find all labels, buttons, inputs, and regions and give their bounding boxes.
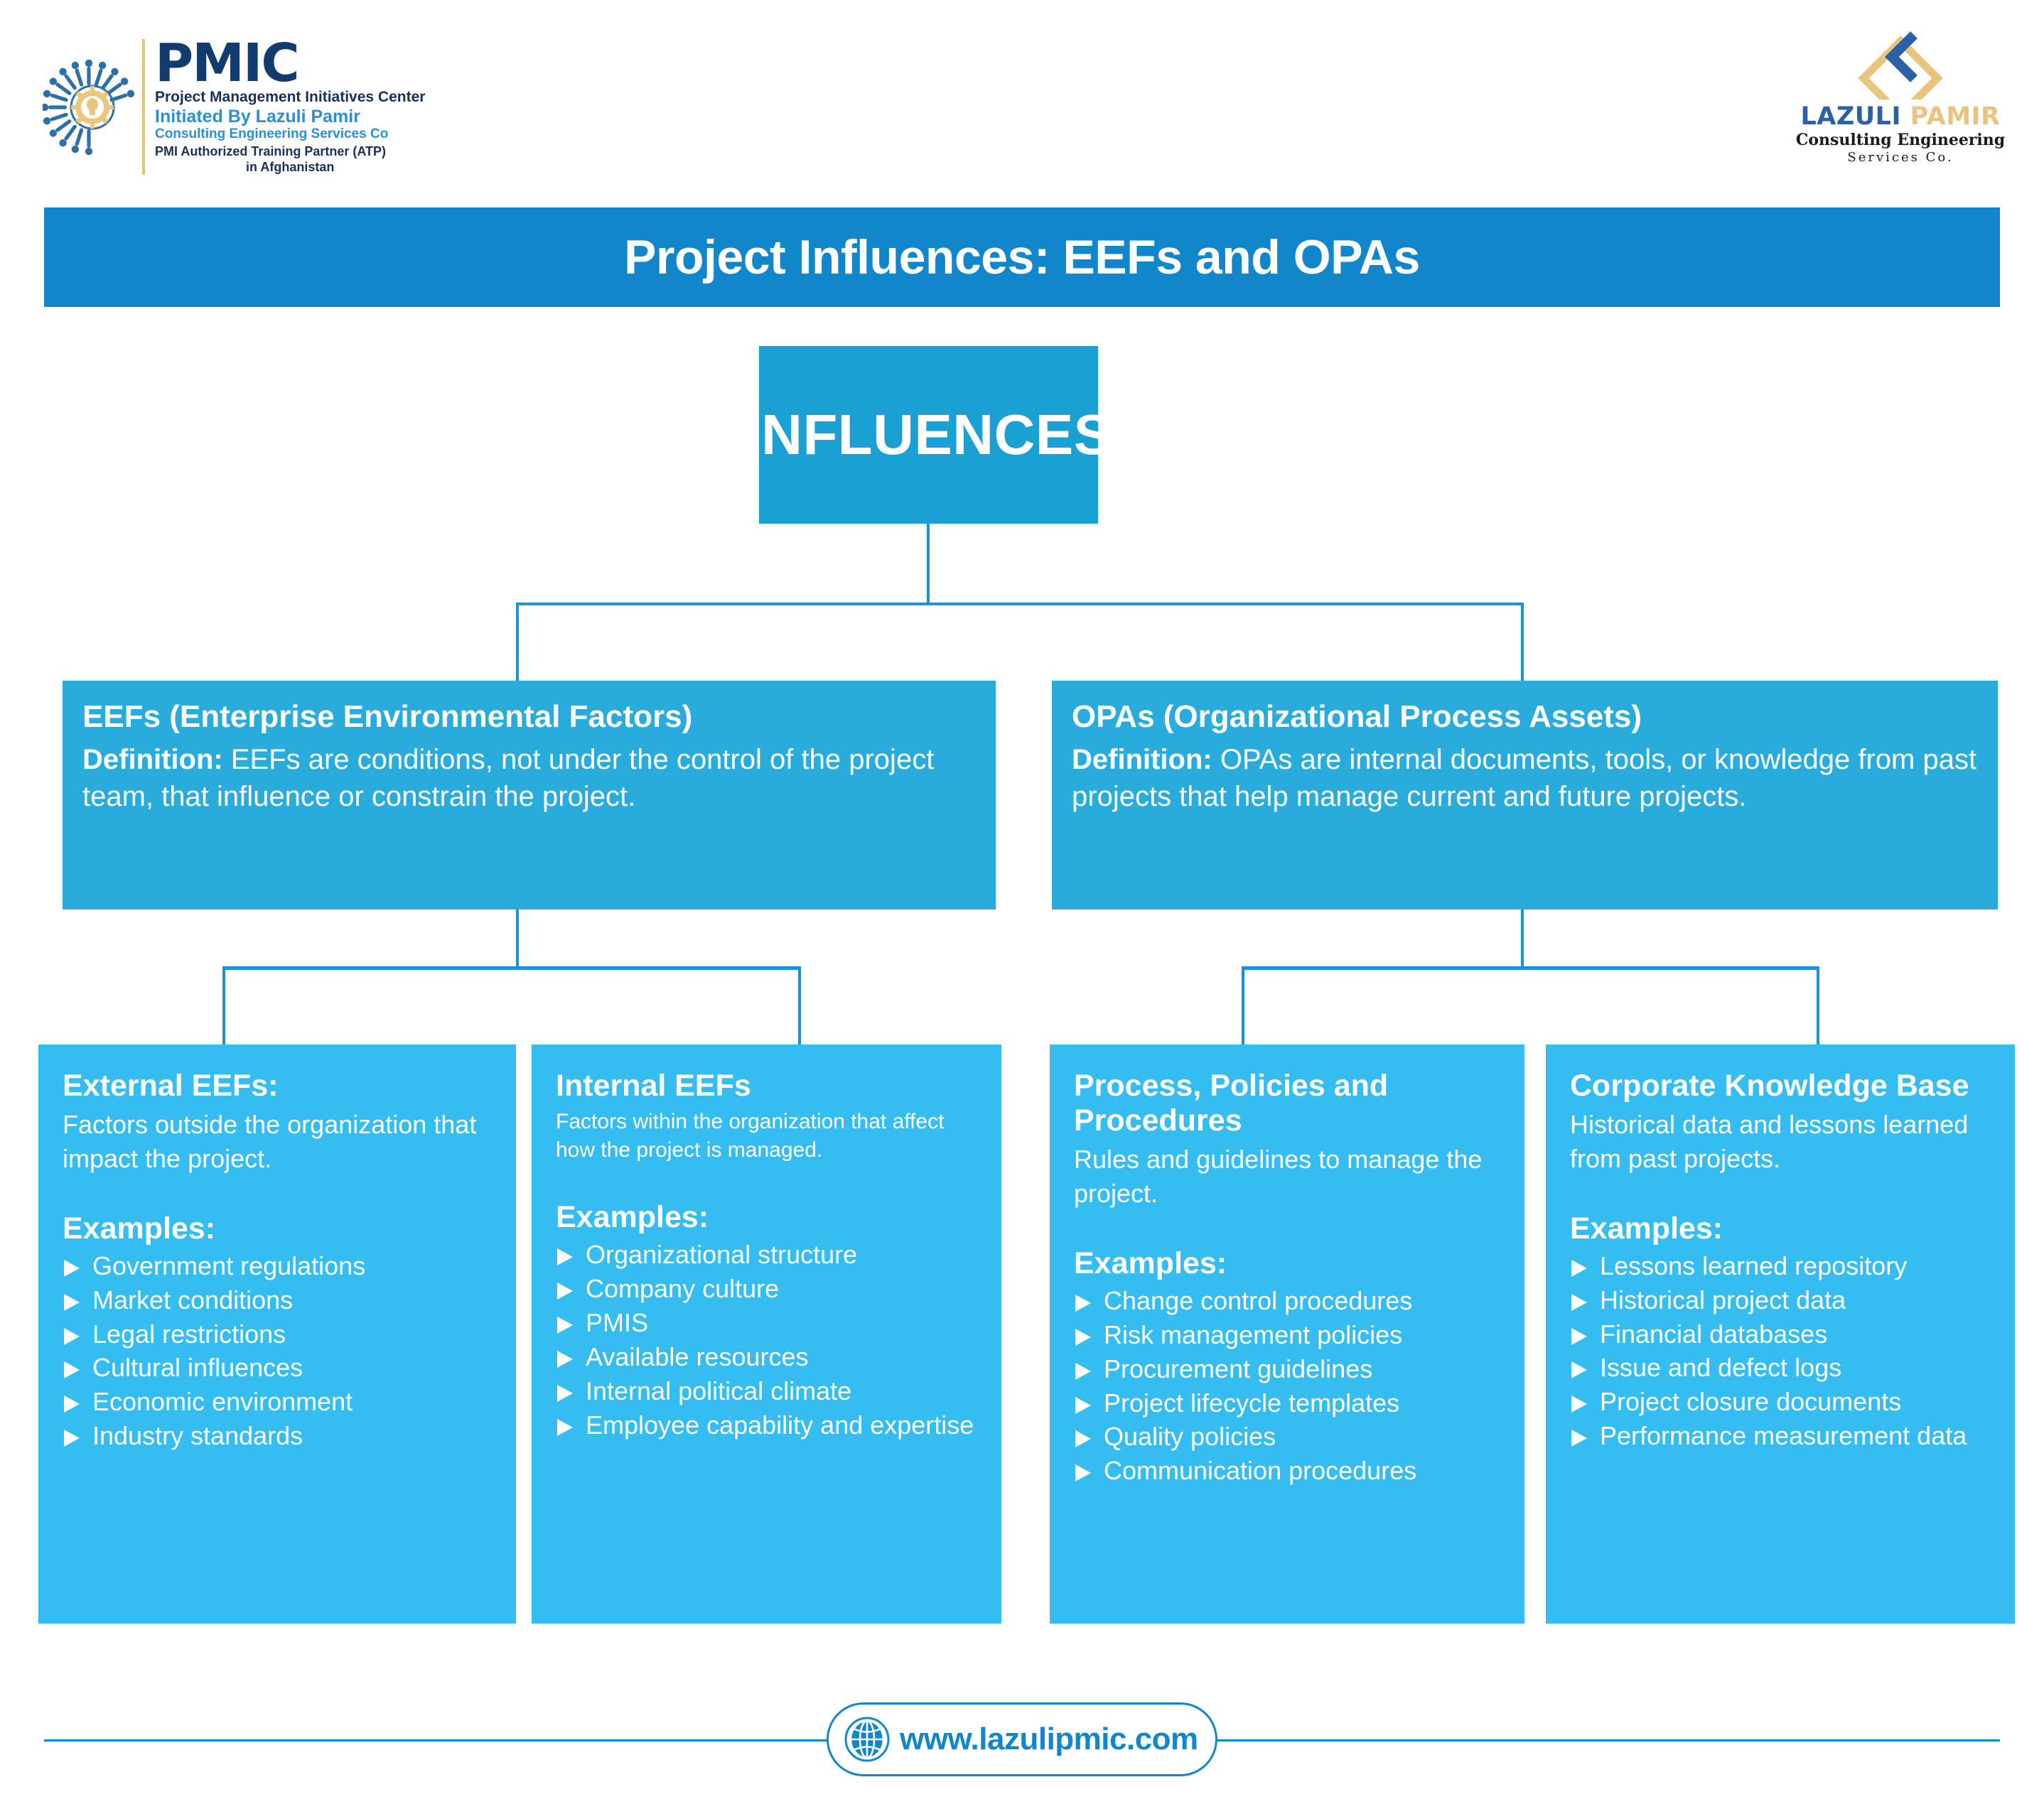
website-badge[interactable]: www.lazulipmic.com	[827, 1702, 1217, 1776]
list-item-label: Change control procedures	[1104, 1285, 1503, 1317]
card-corporate-knowledge-title: Corporate Knowledge Base	[1570, 1069, 1994, 1103]
pamir-word: PAMIR	[1910, 102, 2001, 131]
node-opas: OPAs (Organizational Process Assets) Def…	[1052, 681, 1998, 909]
connector-opa-bus	[1242, 966, 1819, 970]
list-item: Legal restrictions	[63, 1319, 495, 1350]
triangle-bullet-icon	[1074, 1361, 1098, 1381]
triangle-bullet-icon	[63, 1428, 87, 1448]
card-external-eefs-description: Factors outside the organization that im…	[63, 1108, 495, 1176]
node-influences: INFLUENCES	[759, 346, 1098, 524]
node-eefs: EEFs (Enterprise Environmental Factors) …	[63, 681, 996, 909]
triangle-bullet-icon	[556, 1315, 580, 1335]
list-item-label: Project closure documents	[1600, 1386, 1994, 1417]
list-item: Government regulations	[63, 1251, 495, 1282]
card-internal-eefs-examples-label: Examples:	[556, 1200, 980, 1235]
pmic-tagline-2: Initiated By Lazuli Pamir	[155, 107, 425, 127]
connector-to-internal-eefs	[798, 966, 801, 1046]
list-item: Project closure documents	[1570, 1386, 1994, 1417]
page-title-bar: Project Influences: EEFs and OPAs	[44, 207, 2000, 307]
list-item: Industry standards	[63, 1420, 495, 1452]
card-process-policies-procedures: Process, Policies and Procedures Rules a…	[1050, 1044, 1524, 1624]
list-item: Historical project data	[1570, 1285, 1994, 1316]
triangle-bullet-icon	[63, 1327, 87, 1346]
list-item-label: Financial databases	[1600, 1319, 1994, 1350]
card-process-policies-examples-label: Examples:	[1074, 1246, 1503, 1281]
list-item: Issue and defect logs	[1570, 1352, 1994, 1383]
connector-eef-stem	[516, 909, 519, 969]
list-item: Company culture	[556, 1273, 980, 1305]
triangle-bullet-icon	[556, 1281, 580, 1301]
lazuli-sub-1: Consulting Engineering	[1794, 131, 2007, 149]
pmic-tagline-5: in Afghanistan	[155, 160, 425, 175]
card-corporate-knowledge-examples-label: Examples:	[1570, 1211, 1994, 1246]
lazuli-diamond-icon	[1858, 26, 1943, 99]
list-item-label: Market conditions	[92, 1285, 495, 1316]
list-item-label: Lessons learned repository	[1600, 1251, 1994, 1282]
card-internal-eefs-title: Internal EEFs	[556, 1069, 980, 1103]
connector-level2-bus	[516, 603, 1524, 605]
lazuli-word: LAZULI	[1800, 102, 1901, 131]
connector-to-external-eefs	[222, 966, 225, 1046]
pmic-acronym: PMIC	[155, 39, 425, 87]
node-opas-heading: OPAs (Organizational Process Assets)	[1072, 699, 1978, 735]
list-item-label: Government regulations	[92, 1251, 495, 1282]
list-item-label: Risk management policies	[1104, 1319, 1503, 1351]
list-item: Project lifecycle templates	[1074, 1388, 1503, 1419]
triangle-bullet-icon	[1570, 1292, 1594, 1312]
node-eefs-definition-label: Definition:	[82, 744, 223, 775]
card-external-eefs: External EEFs: Factors outside the organ…	[38, 1044, 516, 1624]
node-eefs-heading: EEFs (Enterprise Environmental Factors)	[82, 699, 976, 735]
list-item: Organizational structure	[556, 1239, 980, 1270]
card-internal-eefs-description: Factors within the organization that aff…	[556, 1108, 980, 1165]
triangle-bullet-icon	[63, 1292, 87, 1312]
pmic-tagline-3: Consulting Engineering Services Co	[155, 126, 425, 142]
list-item: Change control procedures	[1074, 1285, 1503, 1317]
list-item: Procurement guidelines	[1074, 1354, 1503, 1385]
node-opas-definition-label: Definition:	[1072, 744, 1212, 775]
triangle-bullet-icon	[556, 1247, 580, 1267]
connector-to-opa	[1521, 603, 1524, 682]
triangle-bullet-icon	[63, 1258, 87, 1278]
triangle-bullet-icon	[1570, 1360, 1594, 1380]
card-process-policies-description: Rules and guidelines to manage the proje…	[1074, 1143, 1503, 1211]
list-item-label: Project lifecycle templates	[1104, 1388, 1503, 1419]
list-item-label: Company culture	[586, 1273, 980, 1305]
list-item: Employee capability and expertise	[556, 1410, 980, 1441]
triangle-bullet-icon	[1074, 1463, 1098, 1483]
triangle-bullet-icon	[1570, 1327, 1594, 1346]
list-item: Internal political climate	[556, 1376, 980, 1407]
list-item: Economic environment	[63, 1386, 495, 1417]
list-item-label: Performance measurement data	[1600, 1420, 1994, 1452]
list-item-label: Historical project data	[1600, 1285, 1994, 1316]
list-item-label: Communication procedures	[1104, 1455, 1503, 1486]
connector-to-process-policies	[1242, 966, 1244, 1046]
list-item-label: Available resources	[586, 1341, 980, 1373]
triangle-bullet-icon	[1074, 1395, 1098, 1415]
card-internal-eefs: Internal EEFs Factors within the organiz…	[532, 1044, 1001, 1624]
triangle-bullet-icon	[63, 1394, 87, 1414]
triangle-bullet-icon	[1074, 1429, 1098, 1449]
connector-root-stem	[927, 524, 930, 604]
list-item-label: Cultural influences	[92, 1352, 495, 1383]
node-eefs-definition: Definition: EEFs are conditions, not und…	[82, 741, 976, 816]
list-item: PMIS	[556, 1307, 980, 1339]
list-item-label: Procurement guidelines	[1104, 1354, 1503, 1385]
list-item-label: Issue and defect logs	[1600, 1352, 1994, 1383]
connector-opa-stem	[1521, 909, 1524, 969]
list-item-label: Legal restrictions	[92, 1319, 495, 1350]
pmic-logo: PMIC Project Management Initiatives Cent…	[43, 39, 425, 175]
triangle-bullet-icon	[556, 1383, 580, 1403]
list-item: Communication procedures	[1074, 1455, 1503, 1486]
card-external-eefs-example-list: Government regulations Market conditions…	[63, 1251, 495, 1452]
card-corporate-knowledge-description: Historical data and lessons learned from…	[1570, 1108, 1994, 1176]
page-title: Project Influences: EEFs and OPAs	[624, 229, 1420, 285]
list-item: Available resources	[556, 1341, 980, 1373]
lazuli-pamir-logo: LAZULI PAMIR Consulting Engineering Serv…	[1794, 26, 2007, 166]
node-opas-definition: Definition: OPAs are internal documents,…	[1072, 741, 1978, 816]
list-item-label: Internal political climate	[586, 1376, 980, 1407]
lazuli-pamir-name: LAZULI PAMIR	[1794, 102, 2007, 131]
globe-icon	[844, 1717, 890, 1762]
pmic-tagline-1: Project Management Initiatives Center	[155, 89, 425, 107]
list-item: Lessons learned repository	[1570, 1251, 1994, 1282]
infographic-page: PMIC Project Management Initiatives Cent…	[0, 0, 2044, 1809]
pmic-sunburst-icon	[43, 58, 135, 157]
triangle-bullet-icon	[1074, 1327, 1098, 1347]
card-internal-eefs-example-list: Organizational structure Company culture…	[556, 1239, 980, 1440]
card-process-policies-example-list: Change control procedures Risk managemen…	[1074, 1285, 1503, 1486]
card-external-eefs-examples-label: Examples:	[63, 1211, 495, 1246]
list-item-label: Industry standards	[92, 1420, 495, 1452]
card-external-eefs-title: External EEFs:	[63, 1069, 495, 1103]
lazuli-sub-2: Services Co.	[1794, 149, 2007, 166]
website-url: www.lazulipmic.com	[900, 1722, 1198, 1757]
list-item-label: Organizational structure	[586, 1239, 980, 1270]
list-item: Cultural influences	[63, 1352, 495, 1383]
list-item: Financial databases	[1570, 1319, 1994, 1350]
card-process-policies-title: Process, Policies and Procedures	[1074, 1069, 1503, 1138]
card-corporate-knowledge-base: Corporate Knowledge Base Historical data…	[1546, 1044, 2015, 1624]
triangle-bullet-icon	[1570, 1428, 1594, 1448]
triangle-bullet-icon	[1570, 1258, 1594, 1278]
list-item-label: Employee capability and expertise	[586, 1410, 980, 1441]
list-item: Quality policies	[1074, 1421, 1503, 1452]
triangle-bullet-icon	[1074, 1293, 1098, 1313]
triangle-bullet-icon	[556, 1417, 580, 1437]
pmic-tagline-4: PMI Authorized Training Partner (ATP)	[155, 144, 425, 160]
list-item-label: PMIS	[586, 1307, 980, 1339]
list-item-label: Economic environment	[92, 1386, 495, 1417]
node-influences-label: INFLUENCES	[745, 402, 1112, 468]
card-corporate-knowledge-example-list: Lessons learned repository Historical pr…	[1570, 1251, 1994, 1452]
connector-eef-bus	[222, 966, 801, 970]
list-item-label: Quality policies	[1104, 1421, 1503, 1452]
triangle-bullet-icon	[63, 1360, 87, 1380]
connector-to-eef	[516, 603, 519, 682]
list-item: Risk management policies	[1074, 1319, 1503, 1351]
list-item: Market conditions	[63, 1285, 495, 1316]
connector-to-corporate-knowledge	[1817, 966, 1819, 1046]
triangle-bullet-icon	[1570, 1394, 1594, 1414]
list-item: Performance measurement data	[1570, 1420, 1994, 1452]
triangle-bullet-icon	[556, 1349, 580, 1369]
